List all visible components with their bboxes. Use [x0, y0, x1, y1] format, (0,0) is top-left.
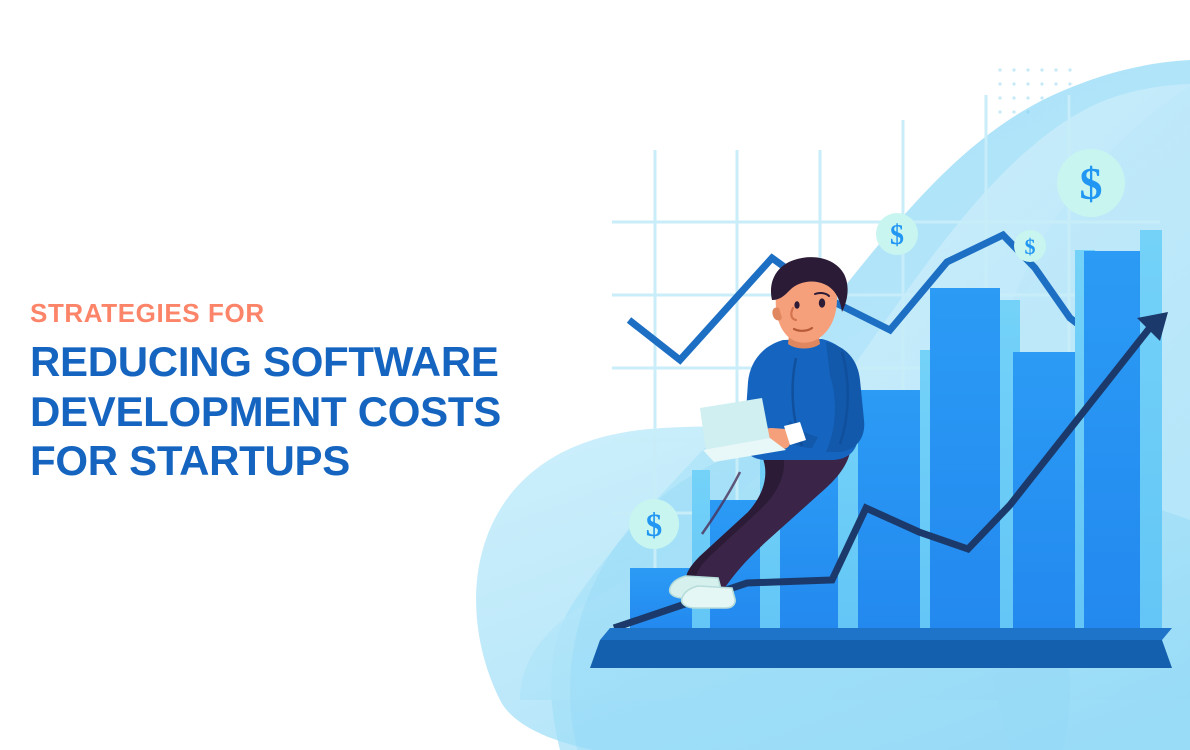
page-title: REDUCING SOFTWARE DEVELOPMENT COSTS FOR … — [30, 337, 590, 486]
headline-line-1: REDUCING SOFTWARE — [30, 337, 590, 387]
eyebrow-text: STRATEGIES FOR — [30, 300, 590, 327]
text-block: STRATEGIES FOR REDUCING SOFTWARE DEVELOP… — [30, 300, 590, 486]
bar-light — [1140, 230, 1162, 628]
bar-7 — [1084, 251, 1140, 628]
svg-text:$: $ — [1080, 158, 1103, 209]
platform-front-face — [590, 640, 1172, 668]
bar-5 — [930, 288, 1000, 628]
svg-text:$: $ — [890, 220, 904, 251]
platform-base — [590, 628, 1172, 668]
eye-right — [819, 298, 825, 307]
eye-left — [794, 301, 799, 309]
headline-line-3: FOR STARTUPS — [30, 436, 590, 486]
coin-medium-a: $ — [876, 213, 918, 255]
svg-text:$: $ — [646, 508, 663, 544]
banner-root: $ $ $ $ — [0, 0, 1190, 750]
svg-text:$: $ — [1025, 234, 1036, 259]
headline-line-2: DEVELOPMENT COSTS — [30, 387, 590, 437]
shoe-front — [682, 586, 736, 608]
platform-top-face — [600, 628, 1172, 640]
coin-large: $ — [1057, 149, 1125, 217]
coin-small: $ — [1014, 230, 1046, 262]
coin-medium-b: $ — [629, 499, 679, 549]
